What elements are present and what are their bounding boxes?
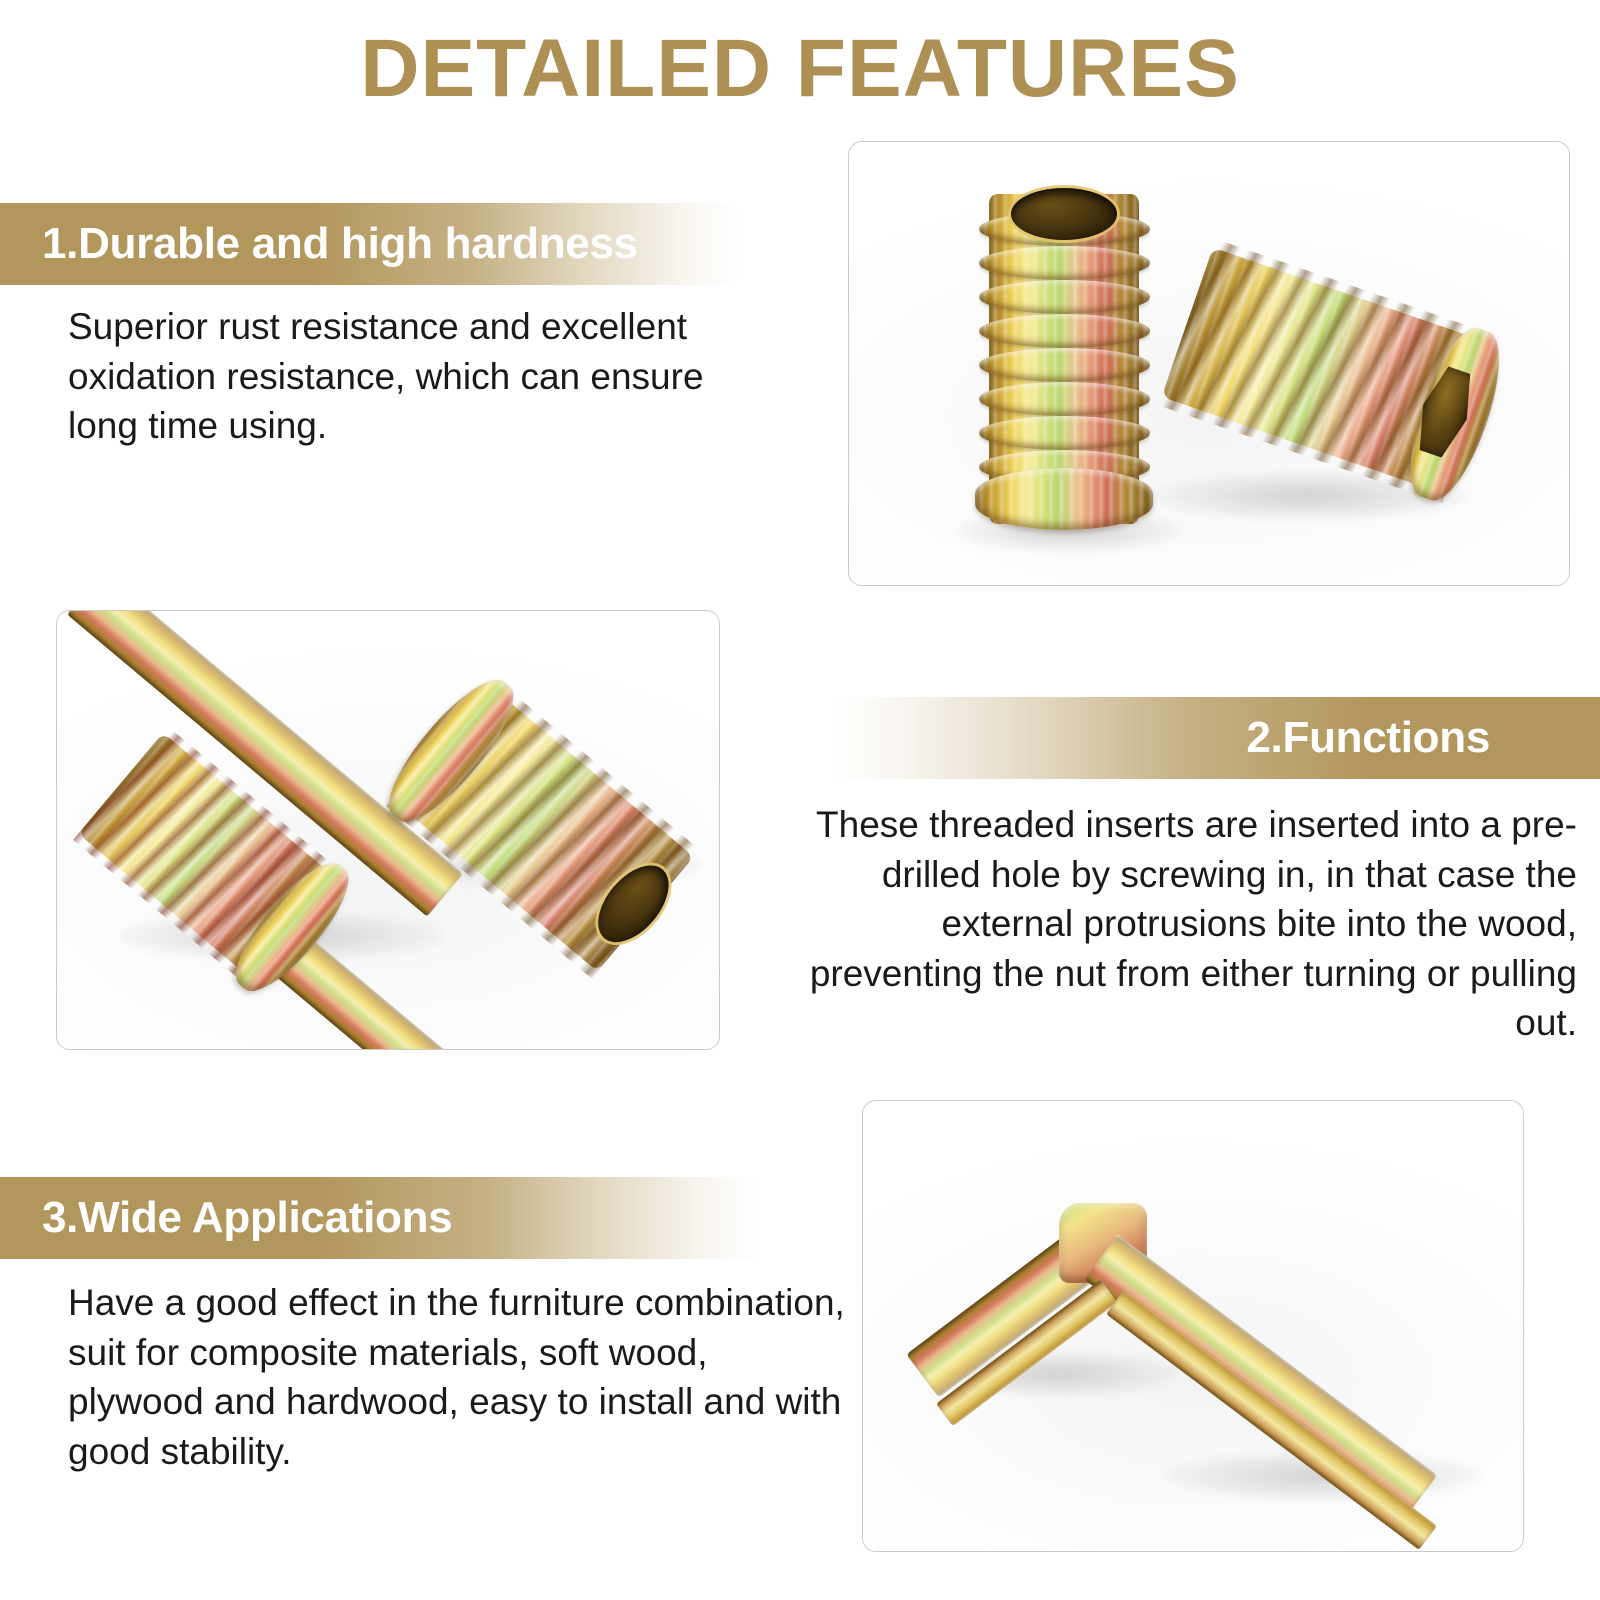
- threaded-insert-standing: [989, 194, 1139, 524]
- product-photo-inserts-on-rods: [56, 610, 720, 1050]
- page-title: DETAILED FEATURES: [0, 22, 1600, 116]
- product-photo-inserts-pair: [848, 141, 1570, 586]
- section-header-band-1: 1.Durable and high hardness: [0, 203, 740, 285]
- insert-internal-bore: [1011, 188, 1117, 240]
- section-header-band-3: 3.Wide Applications: [0, 1177, 760, 1259]
- insert-flange: [975, 468, 1153, 530]
- section-body-2: These threaded inserts are inserted into…: [795, 800, 1577, 1048]
- infographic-page: DETAILED FEATURES 1.Durable and high har…: [0, 0, 1600, 1600]
- section-heading-2: 2.Functions: [1246, 713, 1490, 763]
- section-body-3: Have a good effect in the furniture comb…: [68, 1278, 850, 1476]
- section-header-band-2: 2.Functions: [830, 697, 1600, 779]
- section-heading-1: 1.Durable and high hardness: [42, 219, 638, 269]
- section-heading-3: 3.Wide Applications: [42, 1193, 452, 1243]
- section-body-1: Superior rust resistance and excellent o…: [68, 302, 768, 451]
- product-photo-hex-key: [862, 1100, 1524, 1552]
